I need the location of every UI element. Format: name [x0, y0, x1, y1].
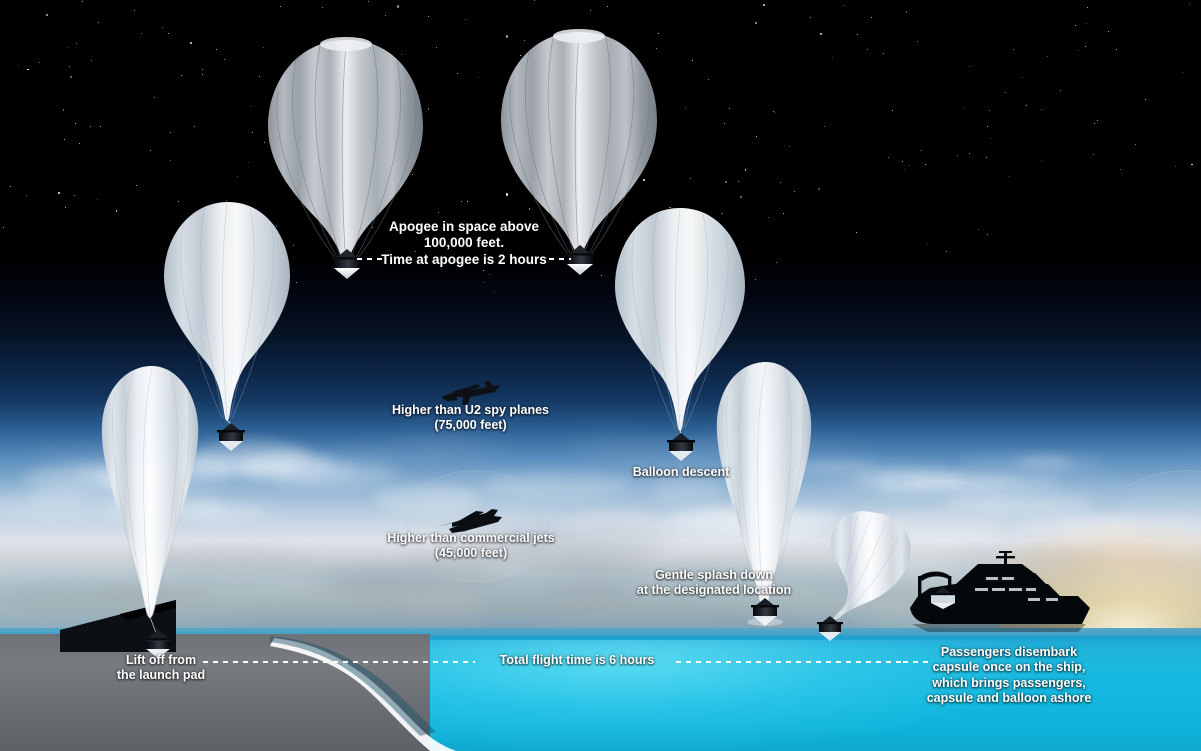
label-apogee: Apogee in space above 100,000 feet. Time…	[380, 219, 548, 268]
balloon-icon-launch	[102, 366, 198, 658]
label-balloon-descent: Balloon descent	[620, 465, 742, 480]
capsule-icon-descent-high	[667, 433, 695, 461]
connector-apogee-right	[549, 258, 571, 260]
recovery-ship-icon	[910, 551, 1090, 632]
label-splash-down: Gentle splash down at the designated loc…	[631, 568, 797, 599]
label-commercial-jet-altitude: Higher than commercial jets (45,000 feet…	[380, 531, 562, 562]
connector-flight-time-right	[676, 661, 904, 663]
capsule-icon-splashdown	[747, 598, 783, 626]
label-passengers-disembark: Passengers disembark capsule once on the…	[921, 645, 1097, 706]
label-total-flight-time: Total flight time is 6 hours	[477, 653, 677, 668]
u2-spy-plane-icon	[441, 381, 500, 405]
capsule-icon-recovered-water	[817, 616, 843, 641]
label-lift-off: Lift off from the launch pad	[99, 653, 223, 684]
connector-flight-time-left	[203, 661, 475, 663]
label-u2-altitude: Higher than U2 spy planes (75,000 feet)	[383, 403, 558, 434]
infographic-canvas: Apogee in space above 100,000 feet. Time…	[0, 0, 1201, 751]
capsule-icon-ascent	[217, 423, 245, 451]
commercial-jet-icon	[437, 509, 502, 533]
capsule-icon-apogee-2	[565, 245, 595, 275]
capsule-icon-apogee-1	[332, 249, 362, 279]
balloon-icon-deflating	[817, 511, 911, 641]
